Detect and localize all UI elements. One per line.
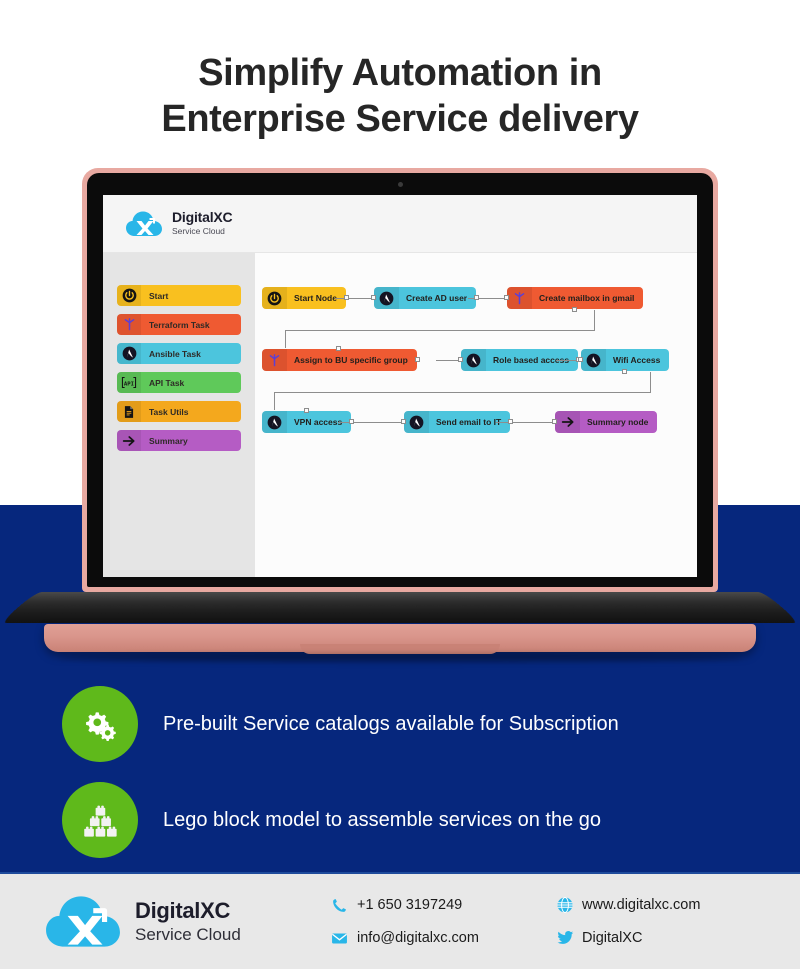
footer-contact-column-1: +1 650 3197249 info@digitalxc.com xyxy=(330,896,555,948)
footer-contact-column-2: www.digitalxc.com DigitalXC xyxy=(555,896,700,948)
wire-wifi-down xyxy=(650,372,651,392)
node-port-left[interactable] xyxy=(401,419,406,424)
footer-website[interactable]: www.digitalxc.com xyxy=(555,896,700,915)
wire-mailbox-to-bu-h xyxy=(285,330,595,331)
power-icon xyxy=(117,285,141,306)
node-port-left[interactable] xyxy=(371,295,376,300)
app-body: Start Terraform Task xyxy=(103,253,697,577)
page-title: Simplify Automation in Enterprise Servic… xyxy=(0,50,800,142)
wire-start-to-ad xyxy=(335,298,371,299)
envelope-icon xyxy=(330,929,349,948)
palette-item-label: Start xyxy=(141,291,168,301)
footer-phone[interactable]: +1 650 3197249 xyxy=(330,896,555,915)
footer-website-text: www.digitalxc.com xyxy=(582,897,700,913)
node-port-right[interactable] xyxy=(344,295,349,300)
feature-list: Pre-built Service catalogs available for… xyxy=(62,686,762,878)
laptop-keyboard-deck xyxy=(0,592,800,623)
palette-item-ansible-task[interactable]: Ansible Task xyxy=(117,343,241,364)
wire-vpn-up xyxy=(274,392,275,410)
ansible-icon xyxy=(117,343,141,364)
app-header: DigitalXC Service Cloud xyxy=(103,195,697,253)
node-port-right[interactable] xyxy=(508,419,513,424)
workflow-node-create-mailbox[interactable]: Create mailbox in gmail xyxy=(507,287,643,309)
ansible-icon xyxy=(374,287,399,309)
page-footer: DigitalXC Service Cloud +1 650 3197249 i… xyxy=(0,872,800,969)
palette-item-label: Summary xyxy=(141,436,188,446)
footer-twitter-text: DigitalXC xyxy=(582,930,642,946)
workflow-node-assign-bu-group[interactable]: Assign to BU specific group xyxy=(262,349,417,371)
laptop-bezel: DigitalXC Service Cloud Sta xyxy=(87,173,713,587)
laptop-lid: DigitalXC Service Cloud Sta xyxy=(82,168,718,592)
node-port-bottom[interactable] xyxy=(622,369,627,374)
app-brand-text: DigitalXC Service Cloud xyxy=(172,210,232,237)
arrow-right-icon xyxy=(555,411,580,433)
workflow-node-create-ad-user[interactable]: Create AD user xyxy=(374,287,476,309)
svg-text:API: API xyxy=(124,381,134,387)
node-palette-sidebar: Start Terraform Task xyxy=(103,253,255,577)
lego-blocks-icon xyxy=(62,782,138,858)
wire-vpn-to-email xyxy=(338,422,401,423)
document-icon xyxy=(117,401,141,422)
ansible-icon xyxy=(461,349,486,371)
footer-brand-tagline: Service Cloud xyxy=(135,924,241,946)
terraform-icon xyxy=(117,314,141,335)
webcam-icon xyxy=(398,182,403,187)
palette-item-start[interactable]: Start xyxy=(117,285,241,306)
feature-label: Lego block model to assemble services on… xyxy=(138,809,601,832)
api-icon: API xyxy=(117,372,141,393)
footer-phone-text: +1 650 3197249 xyxy=(357,897,462,913)
wire-rbac-to-wifi xyxy=(556,360,578,361)
ansible-icon xyxy=(404,411,429,433)
workflow-node-summary[interactable]: Summary node xyxy=(555,411,657,433)
footer-email-text: info@digitalxc.com xyxy=(357,930,479,946)
workflow-node-label: Create AD user xyxy=(399,293,476,303)
wire-email-to-summary xyxy=(496,422,552,423)
ansible-icon xyxy=(262,411,287,433)
power-icon xyxy=(262,287,287,309)
palette-item-task-utils[interactable]: Task Utils xyxy=(117,401,241,422)
node-port-right[interactable] xyxy=(415,357,420,362)
terraform-icon xyxy=(507,287,532,309)
node-port-left[interactable] xyxy=(458,357,463,362)
palette-item-label: Ansible Task xyxy=(141,349,201,359)
laptop-mockup: DigitalXC Service Cloud Sta xyxy=(36,168,764,660)
wire-mailbox-down xyxy=(594,310,595,330)
node-port-left[interactable] xyxy=(504,295,509,300)
twitter-icon xyxy=(555,929,574,948)
footer-email[interactable]: info@digitalxc.com xyxy=(330,929,555,948)
feature-label: Pre-built Service catalogs available for… xyxy=(138,713,619,736)
palette-item-terraform-task[interactable]: Terraform Task xyxy=(117,314,241,335)
feature-item-lego-block-model: Lego block model to assemble services on… xyxy=(62,782,762,858)
footer-brand: DigitalXC Service Cloud xyxy=(0,891,330,953)
node-port-bottom[interactable] xyxy=(572,307,577,312)
wire-wifi-to-vpn-h xyxy=(274,392,651,393)
footer-brand-name: DigitalXC xyxy=(135,898,241,924)
workflow-graph: Start Node Create AD us xyxy=(255,253,697,577)
node-port-right[interactable] xyxy=(474,295,479,300)
laptop-shadow xyxy=(58,654,742,662)
headline-line-2: Enterprise Service delivery xyxy=(0,96,800,142)
workflow-node-wifi-access[interactable]: Wifi Access xyxy=(581,349,669,371)
laptop-base xyxy=(36,584,764,660)
workflow-node-label: Wifi Access xyxy=(606,355,669,365)
palette-item-label: Task Utils xyxy=(141,407,189,417)
workflow-node-label: Summary node xyxy=(580,417,657,427)
phone-icon xyxy=(330,896,349,915)
feature-item-prebuilt-catalogs: Pre-built Service catalogs available for… xyxy=(62,686,762,762)
palette-item-label: API Task xyxy=(141,378,184,388)
node-port-left[interactable] xyxy=(552,419,557,424)
palette-item-label: Terraform Task xyxy=(141,320,210,330)
wire-bu-up xyxy=(285,330,286,348)
workflow-node-start[interactable]: Start Node xyxy=(262,287,346,309)
node-port-top[interactable] xyxy=(304,408,309,413)
headline-line-1: Simplify Automation in xyxy=(198,52,602,94)
cloud-x-logo-icon xyxy=(44,891,122,953)
workflow-canvas[interactable]: Start Node Create AD us xyxy=(255,253,697,577)
footer-brand-text: DigitalXC Service Cloud xyxy=(135,898,241,946)
globe-icon xyxy=(555,896,574,915)
app-brand-name: DigitalXC xyxy=(172,210,232,225)
node-port-left[interactable] xyxy=(578,357,583,362)
gears-icon xyxy=(62,686,138,762)
arrow-right-icon xyxy=(117,430,141,451)
app-screen: DigitalXC Service Cloud Sta xyxy=(103,195,697,577)
workflow-node-label: Create mailbox in gmail xyxy=(532,293,643,303)
terraform-icon xyxy=(262,349,287,371)
palette-item-api-task[interactable]: API API Task xyxy=(117,372,241,393)
app-brand-tagline: Service Cloud xyxy=(172,225,232,237)
workflow-node-label: Assign to BU specific group xyxy=(287,355,417,365)
node-port-top[interactable] xyxy=(336,346,341,351)
palette-item-summary[interactable]: Summary xyxy=(117,430,241,451)
workflow-node-send-email-to-it[interactable]: Send email to IT xyxy=(404,411,510,433)
ansible-icon xyxy=(581,349,606,371)
node-port-right[interactable] xyxy=(349,419,354,424)
poster-stage: Simplify Automation in Enterprise Servic… xyxy=(0,0,800,969)
wire-bu-to-rbac xyxy=(436,360,458,361)
laptop-base-notch xyxy=(300,644,500,654)
cloud-x-logo-icon xyxy=(125,209,163,239)
footer-twitter[interactable]: DigitalXC xyxy=(555,929,700,948)
